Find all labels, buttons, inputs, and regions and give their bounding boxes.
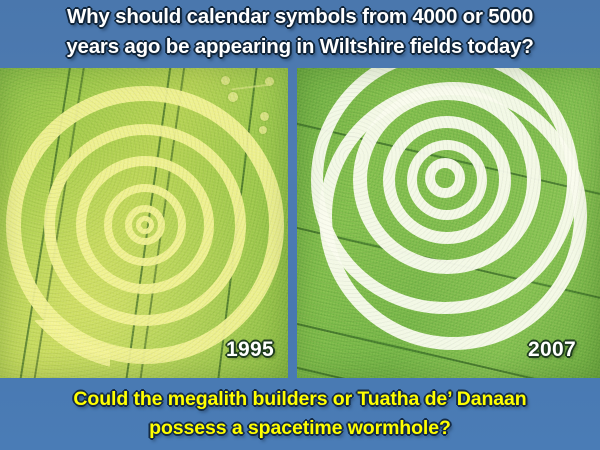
caption-text: Could the megalith builders or Tuatha de… bbox=[0, 385, 600, 443]
photo-crop-circle-1995 bbox=[0, 68, 288, 378]
satellite-dot bbox=[260, 112, 269, 121]
satellite-dot bbox=[221, 76, 230, 85]
slide-canvas: Why should calendar symbols from 4000 or… bbox=[0, 0, 600, 450]
caption-line-2: possess a spacetime wormhole? bbox=[0, 414, 600, 443]
crop-spiral-tail bbox=[0, 320, 110, 378]
caption-line-1: Could the megalith builders or Tuatha de… bbox=[0, 385, 600, 414]
crop-ring-centre bbox=[425, 158, 465, 198]
year-label-2007: 2007 bbox=[528, 338, 576, 362]
photo-crop-circle-2007 bbox=[297, 68, 600, 378]
satellite-dot bbox=[228, 92, 238, 102]
headline-line-1: Why should calendar symbols from 4000 or… bbox=[0, 2, 600, 32]
headline-text: Why should calendar symbols from 4000 or… bbox=[0, 2, 600, 62]
year-label-1995: 1995 bbox=[226, 338, 274, 362]
headline-line-2: years ago be appearing in Wiltshire fiel… bbox=[0, 32, 600, 62]
crop-ring-centre bbox=[136, 216, 154, 234]
satellite-dot bbox=[259, 126, 267, 134]
